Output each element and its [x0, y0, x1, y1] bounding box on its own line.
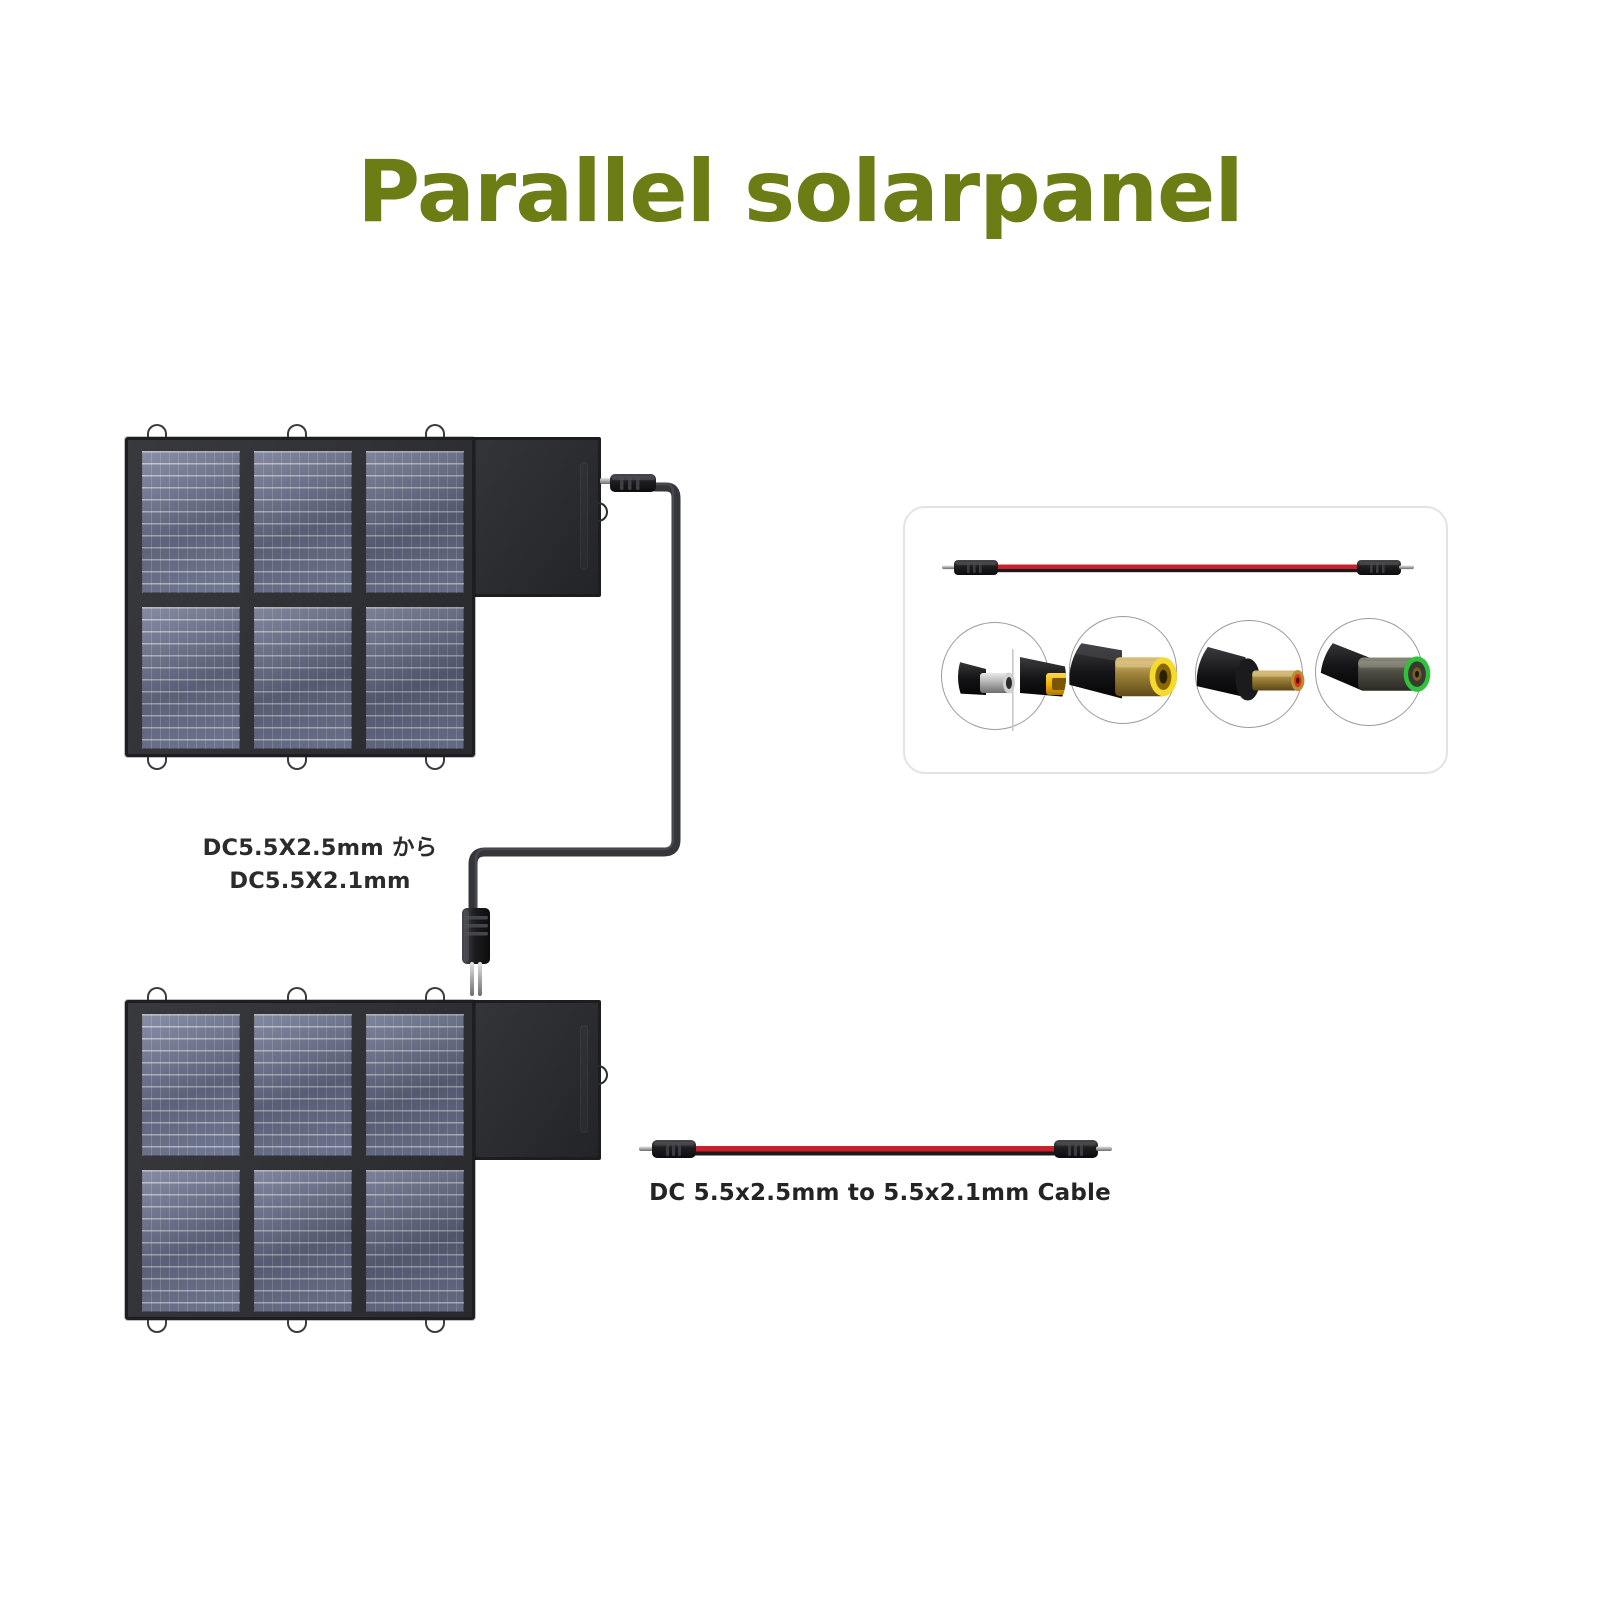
solar-cell: [254, 1170, 352, 1312]
grommet-loop-icon: [147, 987, 167, 1000]
grommet-loop-icon: [425, 757, 445, 770]
solar-cell: [366, 451, 464, 593]
grommet-loop-icon: [425, 424, 445, 437]
page-title: Parallel solarpanel: [0, 142, 1600, 242]
grommet-loop-icon: [287, 987, 307, 1000]
lower-solar-panel: [125, 1000, 595, 1320]
upper-panel-body: [125, 437, 475, 757]
connector-tip-callout-2: [1069, 616, 1177, 724]
yellow-ring-barrel-tip-icon: [1052, 609, 1192, 733]
lower-panel-folded-flap: [465, 1000, 601, 1160]
lower-panel-body: [125, 1000, 475, 1320]
solar-cell: [366, 607, 464, 749]
solar-cell: [142, 1170, 240, 1312]
connector-tip-callouts: [923, 612, 1433, 748]
cable-left-connector: [639, 1140, 696, 1158]
lower-panel-cell-grid: [142, 1014, 464, 1312]
cable-right-connector: [1054, 1140, 1112, 1158]
flap-hang-loop-icon: [592, 1065, 608, 1085]
flap-strap: [580, 1025, 588, 1133]
solar-cell: [142, 451, 240, 593]
upper-panel-cell-grid: [142, 451, 464, 749]
solar-cell: [142, 1014, 240, 1156]
solar-cell: [254, 1014, 352, 1156]
solar-cell: [254, 451, 352, 593]
grommet-loop-icon: [425, 987, 445, 1000]
flap-strap: [580, 462, 588, 570]
grommet-loop-icon: [287, 757, 307, 770]
solar-cell: [142, 607, 240, 749]
adapter-note-label: DC5.5X2.5mm から DC5.5X2.1mm: [150, 832, 490, 897]
adapter-note-line-2: DC5.5X2.1mm: [150, 865, 490, 898]
adapter-note-line-1: DC5.5X2.5mm から: [150, 832, 490, 865]
grommet-loop-icon: [147, 424, 167, 437]
connector-tip-callout-3: [1195, 620, 1303, 728]
solar-cell: [254, 607, 352, 749]
connector-tip-callout-1: [941, 622, 1049, 730]
solar-cell: [366, 1170, 464, 1312]
lower-panel-dc-plug: [462, 908, 490, 996]
grommet-loop-icon: [147, 1320, 167, 1333]
connector-detail-card: [903, 506, 1448, 774]
upper-panel-dc-plug: [600, 474, 656, 492]
grommet-loop-icon: [287, 1320, 307, 1333]
grommet-loop-icon: [287, 424, 307, 437]
flap-hang-loop-icon: [592, 502, 608, 522]
solar-cell: [366, 1014, 464, 1156]
silver-barrel-and-yellow-square-tip-icon: [926, 623, 1066, 731]
grommet-loop-icon: [425, 1320, 445, 1333]
upper-panel-folded-flap: [465, 437, 601, 597]
green-ring-barrel-tip-icon: [1294, 613, 1440, 733]
grommet-loop-icon: [147, 757, 167, 770]
cable-caption-label: DC 5.5x2.5mm to 5.5x2.1mm Cable: [600, 1180, 1160, 1206]
upper-solar-panel: [125, 437, 595, 757]
connector-tip-callout-4: [1315, 618, 1423, 726]
card-dc-extension-cable: [942, 556, 1414, 578]
